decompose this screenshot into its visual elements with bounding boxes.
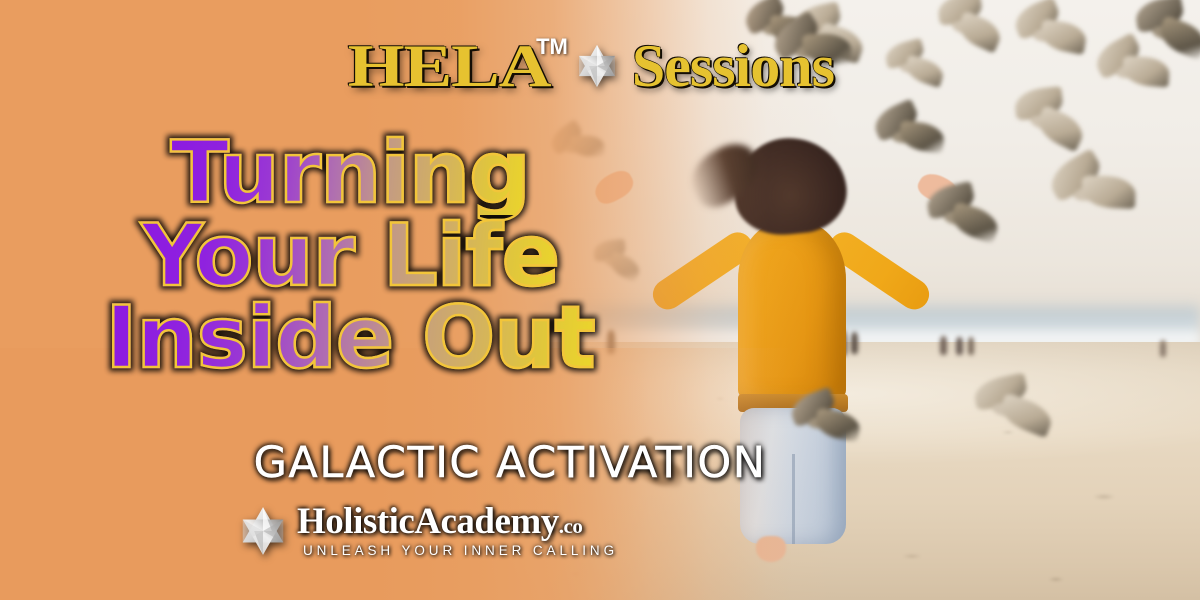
program-title-lockup: HELA TM — [0, 36, 1200, 96]
logo-name-main: HolisticAcademy — [297, 501, 559, 542]
brand-logo[interactable]: HolisticAcademy.co UNLEASH YOUR INNER CA… — [0, 503, 855, 558]
headline-line-1-text: Turning — [170, 132, 529, 215]
logo-text-block: HolisticAcademy.co UNLEASH YOUR INNER CA… — [297, 503, 618, 558]
headline-line-3-text: Inside Out — [105, 297, 594, 380]
headline-line-1: Turning Turning — [0, 132, 700, 215]
logo-tld: .co — [559, 514, 583, 538]
headline-block: Turning Turning Your Life Your Life Insi… — [0, 132, 700, 380]
logo-name: HolisticAcademy.co — [297, 503, 582, 540]
subtitle: GALACTIC ACTIVATION — [0, 438, 1020, 488]
banner-content: HELA TM — [0, 0, 1200, 600]
program-name: HELA — [348, 36, 551, 96]
merkaba-star-icon — [574, 43, 620, 89]
sessions-word: Sessions — [632, 36, 834, 96]
logo-tagline: UNLEASH YOUR INNER CALLING — [303, 543, 618, 558]
promo-banner: HELA TM — [0, 0, 1200, 600]
headline-line-2: Your Life Your Life — [0, 215, 700, 298]
headline-line-3: Inside Out Inside Out — [0, 297, 700, 380]
merkaba-star-icon — [237, 505, 289, 557]
headline-line-2-text: Your Life — [141, 215, 559, 298]
